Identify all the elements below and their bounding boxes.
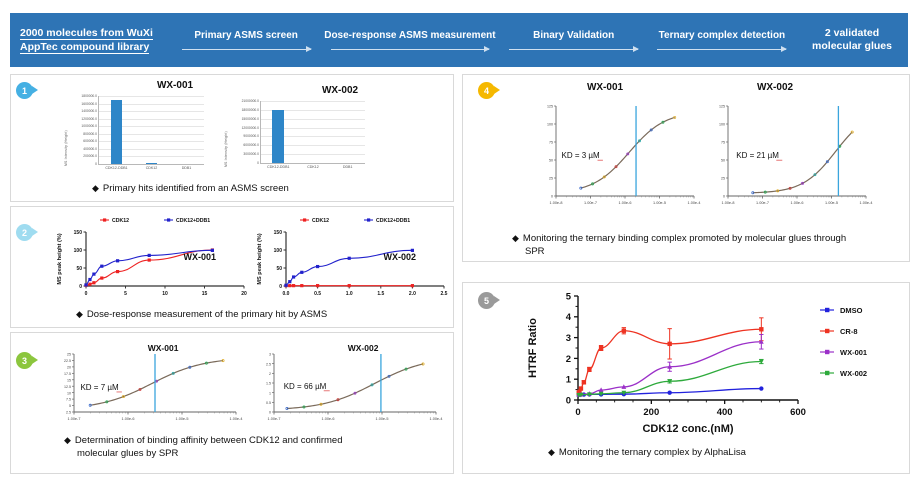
svg-text:0: 0 [79,284,82,290]
svg-text:5: 5 [69,404,71,408]
arrow-right-icon [509,49,638,50]
svg-text:5: 5 [124,291,127,297]
svg-text:CDK12: CDK12 [312,218,329,224]
diamond-bullet-icon: ◆ [548,447,555,457]
svg-text:150: 150 [74,230,83,236]
svg-text:0: 0 [279,284,282,290]
svg-text:CDK12+DDB1: CDK12+DDB1 [376,218,410,224]
panel-1-caption-text: Primary hits identified from an ASMS scr… [103,183,289,194]
svg-text:0.5: 0.5 [266,401,271,405]
svg-text:3: 3 [269,353,271,357]
svg-text:DMSO: DMSO [840,306,863,315]
workflow-step-2: Dose-response ASMS measurement [320,30,499,50]
panel-1-chart-1-title: WX-001 [120,80,230,91]
x-axis-tick-label: CDK12 [146,166,158,170]
panel-2-number: 2 [22,228,27,238]
y-axis-tick-label: 1600000.0 [81,102,97,106]
y-axis-tick-label: 600000.0 [83,139,97,143]
svg-text:1.00e-4: 1.00e-4 [230,417,243,421]
svg-text:WX-001: WX-001 [840,348,867,357]
svg-text:50: 50 [721,159,725,163]
y-axis-tick-label: 200000.0 [83,154,97,158]
y-axis-tick-label: 800000.0 [83,132,97,136]
panel-5-number: 5 [484,296,489,306]
svg-text:100: 100 [547,123,553,127]
panel-3-badge: 3 [16,352,33,369]
svg-text:1.0: 1.0 [346,291,353,297]
svg-text:2.0: 2.0 [409,291,416,297]
y-axis-tick-label: 9000000.0 [243,134,259,138]
svg-text:0.0: 0.0 [283,291,290,297]
panel-3-number: 3 [22,356,27,366]
y-axis-tick-label: 18000000.0 [242,108,259,112]
panel-1-bar-chart-wx001: MS Intensity (Height) 0200000.0400000.06… [62,94,207,174]
workflow-start-line2: AppTec compound library [20,41,149,54]
svg-text:100: 100 [74,248,83,254]
workflow-start-label: 2000 molecules from WuXi AppTec compound… [10,26,172,54]
svg-text:HTRF Ratio: HTRF Ratio [527,318,539,378]
panel-3-caption-line2: molecular glues by SPR [64,447,434,460]
svg-text:CR-8: CR-8 [840,327,858,336]
svg-text:1.00e-4: 1.00e-4 [688,201,701,205]
bar [111,100,123,164]
workflow-header: 2000 molecules from WuXi AppTec compound… [10,13,908,67]
panel-1-chart-2-ylabel: MS Intensity (Height) [224,131,228,167]
workflow-end-label: 2 validated molecular glues [796,27,908,53]
y-axis-tick-label: 12000000.0 [242,126,259,130]
svg-text:75: 75 [549,141,553,145]
bar [146,163,158,164]
x-axis-tick-label: CDK12-DDB1 [267,165,289,169]
svg-text:WX-002: WX-002 [348,343,379,353]
svg-text:125: 125 [547,105,553,109]
svg-text:125: 125 [719,105,725,109]
svg-text:10: 10 [67,391,71,395]
svg-text:1.00e-6: 1.00e-6 [619,201,632,205]
svg-text:CDK12: CDK12 [112,218,129,224]
diamond-bullet-icon: ◆ [64,435,71,445]
panel-5-caption-text: Monitoring the ternary complex by AlphaL… [559,447,746,458]
svg-text:2: 2 [269,372,271,376]
svg-text:CDK12 conc.(nM): CDK12 conc.(nM) [642,423,733,435]
workflow-step-3-label: Binary Validation [533,30,614,41]
svg-text:50: 50 [549,159,553,163]
y-axis-tick-label: 1000000.0 [81,124,97,128]
svg-text:2.5: 2.5 [266,362,271,366]
y-axis-tick-label: 1800000.0 [81,94,97,98]
svg-text:100: 100 [274,248,283,254]
y-axis-tick-label: 400000.0 [83,147,97,151]
svg-text:5: 5 [566,291,572,302]
panel-1-caption: ◆Primary hits identified from an ASMS sc… [92,182,289,195]
panel-4-caption-line1: Monitoring the ternary binding complex p… [523,233,846,244]
arrow-right-icon [657,49,786,50]
svg-text:0: 0 [85,291,88,297]
svg-text:400: 400 [717,407,733,418]
svg-text:WX-002: WX-002 [840,369,867,378]
svg-text:200: 200 [643,407,659,418]
svg-text:WX-002: WX-002 [384,252,417,262]
panel-5-chart-alphalisa: 0123450200400600HTRF RatioCDK12 conc.(nM… [520,286,890,447]
panel-4-chart-1-title: WX-001 [555,82,655,93]
panel-2-chart-wx001: 05010015005101520MS peak height (%)CDK12… [52,210,252,307]
svg-text:1.00e-7: 1.00e-7 [584,201,597,205]
svg-text:15: 15 [67,378,71,382]
svg-text:WX-001: WX-001 [184,252,217,262]
workflow-end-line1: 2 validated [825,27,879,39]
svg-text:2.5: 2.5 [66,411,71,415]
svg-text:0: 0 [566,395,571,406]
svg-text:0: 0 [269,411,271,415]
y-axis-tick-label: 1200000.0 [81,117,97,121]
arrow-right-icon [182,49,311,50]
workflow-end-line2: molecular glues [812,40,892,52]
diamond-bullet-icon: ◆ [512,233,519,243]
svg-text:1.00e-6: 1.00e-6 [122,417,135,421]
workflow-step-4-label: Ternary complex detection [659,30,786,41]
panel-3-caption-line1: Determination of binding affinity betwee… [75,435,343,446]
workflow-step-1-label: Primary ASMS screen [194,30,298,41]
bar [272,110,284,163]
panel-1-chart-1-ylabel: MS Intensity (Height) [64,130,68,166]
svg-text:25: 25 [549,177,553,181]
svg-text:WX-001: WX-001 [148,343,179,353]
panel-2-caption-text: Dose-response measurement of the primary… [87,309,327,320]
svg-text:KD = 66 µM: KD = 66 µM [284,382,327,391]
svg-text:20: 20 [241,291,247,297]
svg-text:0: 0 [723,195,725,199]
panel-3-chart-wx002: 00.511.522.531.00e-71.00e-61.00e-51.00e-… [248,340,444,435]
panel-1-number: 1 [22,86,27,96]
y-axis-tick-label: 0 [257,161,259,165]
panel-4-chart-wx001: 02550751001251.00e-81.00e-71.00e-61.00e-… [530,96,702,219]
panel-4-number: 4 [484,86,489,96]
svg-text:0: 0 [575,407,580,418]
svg-text:1.00e-5: 1.00e-5 [176,417,189,421]
svg-text:22.5: 22.5 [64,359,71,363]
y-axis-tick-label: 0 [95,162,97,166]
svg-text:MS peak height (%): MS peak height (%) [57,233,63,284]
workflow-start-line1: 2000 molecules from WuXi [20,27,153,40]
svg-text:25: 25 [721,177,725,181]
svg-text:2: 2 [566,354,571,365]
svg-text:100: 100 [719,123,725,127]
workflow-step-3: Binary Validation [500,30,648,50]
figure-root: 2000 molecules from WuXi AppTec compound… [0,0,918,482]
y-axis-tick-label: 15000000.0 [242,117,259,121]
x-axis-tick-label: DDB1 [343,165,353,169]
y-axis-tick-label: 21000000.0 [242,99,259,103]
svg-text:1.00e-7: 1.00e-7 [756,201,769,205]
panel-4-chart-2-title: WX-002 [725,82,825,93]
panel-4-chart-wx002: 02550751001251.00e-81.00e-71.00e-61.00e-… [702,96,874,219]
svg-text:KD = 7 µM: KD = 7 µM [80,383,119,392]
svg-text:KD = 3 µM: KD = 3 µM [562,151,601,160]
svg-text:1.00e-7: 1.00e-7 [68,417,81,421]
svg-text:1: 1 [269,391,271,395]
svg-text:MS peak height (%): MS peak height (%) [257,233,263,284]
x-axis-tick-label: CDK12 [307,165,319,169]
gridline [99,96,204,97]
svg-text:1.00e-4: 1.00e-4 [430,417,443,421]
svg-text:12.5: 12.5 [64,385,71,389]
panel-4-caption-line2: SPR [512,245,892,258]
panel-5-caption: ◆Monitoring the ternary complex by Alpha… [548,446,746,459]
svg-text:600: 600 [790,407,806,418]
panel-1-bar-chart-wx002: MS Intensity (Height) 03000000.06000000.… [222,99,372,177]
svg-text:0.5: 0.5 [314,291,321,297]
svg-text:50: 50 [76,266,82,272]
x-axis-tick-label: DDB1 [182,166,192,170]
panel-4-caption: ◆Monitoring the ternary binding complex … [512,232,892,258]
workflow-step-2-label: Dose-response ASMS measurement [324,30,495,41]
panel-1-badge: 1 [16,82,33,99]
y-axis-tick-label: 6000000.0 [243,143,259,147]
svg-text:1: 1 [566,375,572,386]
x-axis-tick-label: CDK12-DDB1 [105,166,127,170]
svg-text:7.5: 7.5 [66,398,71,402]
panel-2-chart-wx002: 0501001500.00.51.01.52.02.5MS peak heigh… [252,210,452,307]
svg-text:1.5: 1.5 [377,291,384,297]
svg-text:50: 50 [276,266,282,272]
panel-2-badge: 2 [16,224,33,241]
svg-text:25: 25 [67,353,71,357]
arrow-right-icon [331,49,489,50]
workflow-step-4: Ternary complex detection [648,30,796,50]
gridline [261,101,365,102]
svg-text:1.00e-6: 1.00e-6 [322,417,335,421]
svg-text:3: 3 [566,333,571,344]
svg-text:KD = 21 µM: KD = 21 µM [736,151,779,160]
svg-text:1.00e-7: 1.00e-7 [268,417,281,421]
panel-3-caption: ◆Determination of binding affinity betwe… [64,434,434,460]
y-axis-tick-label: 3000000.0 [243,152,259,156]
svg-text:15: 15 [202,291,208,297]
diamond-bullet-icon: ◆ [92,183,99,193]
svg-text:1.00e-5: 1.00e-5 [376,417,389,421]
panel-2-caption: ◆Dose-response measurement of the primar… [76,308,327,321]
svg-text:CDK12+DDB1: CDK12+DDB1 [176,218,210,224]
svg-text:150: 150 [274,230,283,236]
svg-text:1.00e-6: 1.00e-6 [791,201,804,205]
panel-4-badge: 4 [478,82,495,99]
svg-text:20: 20 [67,365,71,369]
svg-text:0: 0 [551,195,553,199]
svg-text:1.00e-5: 1.00e-5 [653,201,666,205]
panel-5-badge: 5 [478,292,495,309]
svg-text:17.5: 17.5 [64,372,71,376]
svg-text:1.00e-8: 1.00e-8 [722,201,735,205]
diamond-bullet-icon: ◆ [76,309,83,319]
svg-text:75: 75 [721,141,725,145]
svg-text:10: 10 [162,291,168,297]
svg-text:1.00e-4: 1.00e-4 [860,201,873,205]
svg-text:2.5: 2.5 [441,291,448,297]
workflow-step-1: Primary ASMS screen [172,30,320,50]
svg-text:1.00e-5: 1.00e-5 [825,201,838,205]
svg-text:1.5: 1.5 [266,382,271,386]
svg-text:4: 4 [566,312,572,323]
svg-text:1.00e-8: 1.00e-8 [550,201,563,205]
panel-3-chart-wx001: 2.557.51012.51517.52022.5251.00e-71.00e-… [48,340,244,435]
y-axis-tick-label: 1400000.0 [81,109,97,113]
panel-1-chart-2-title: WX-002 [285,85,395,96]
